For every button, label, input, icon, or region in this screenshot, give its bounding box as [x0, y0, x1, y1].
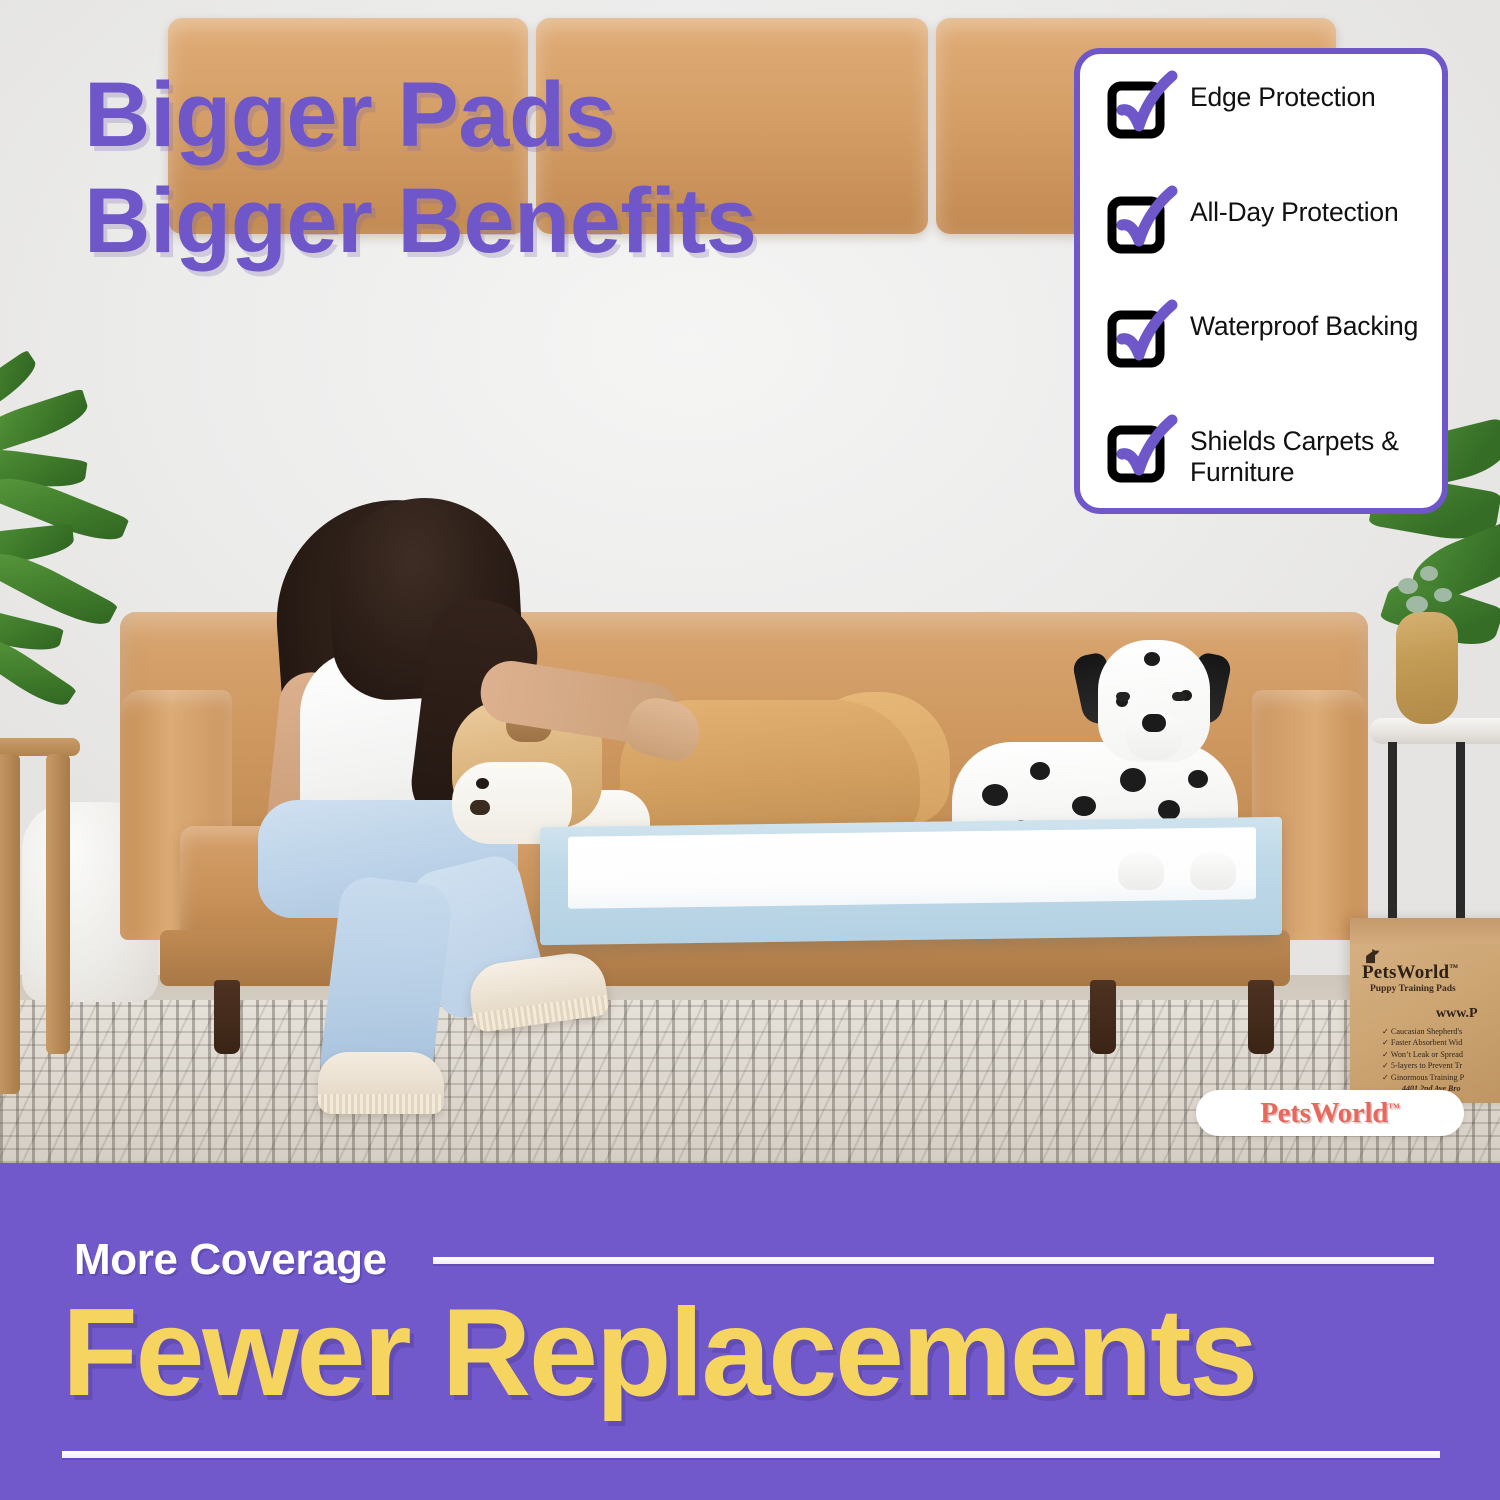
- checkbox-checked-icon: [1106, 311, 1164, 367]
- carton-bullet: ✓ Faster Absorbent Wid: [1382, 1037, 1464, 1048]
- petsworld-logo-badge: PetsWorld™: [1196, 1090, 1464, 1136]
- checklist-item-edge-protection: Edge Protection: [1106, 80, 1422, 138]
- banner-divider-bottom: [62, 1451, 1440, 1458]
- carton-bullet: ✓ 5-layers to Prevent Tr: [1382, 1060, 1464, 1071]
- checklist-label: Shields Carpets & Furniture: [1190, 424, 1422, 488]
- dalmatian-paw: [1190, 852, 1236, 890]
- checkbox-checked-icon: [1106, 426, 1164, 482]
- bulldog-eye: [476, 778, 489, 789]
- banner-eyebrow: More Coverage: [74, 1235, 387, 1285]
- headline-line-1: Bigger Pads: [84, 62, 984, 168]
- eucalyptus-leaf: [1406, 596, 1428, 613]
- carton-bullet: ✓ Caucasian Shepherd's: [1382, 1026, 1464, 1037]
- benefits-checklist-card: Edge Protection All-Day Protection Water…: [1074, 48, 1448, 514]
- bottom-banner: More Coverage Fewer Replacements: [0, 1163, 1500, 1500]
- banner-divider-top: [433, 1257, 1434, 1264]
- checklist-label: All-Day Protection: [1190, 195, 1398, 228]
- training-pad: [540, 817, 1282, 945]
- carton-brand-name: PetsWorld™: [1362, 962, 1459, 984]
- dalmatian-nose: [1142, 714, 1166, 732]
- product-carton: PetsWorld™ Puppy Training Pads www.P ✓ C…: [1350, 918, 1500, 1103]
- stool-leg: [46, 754, 70, 1054]
- banner-headline: Fewer Replacements: [62, 1291, 1462, 1415]
- page-title: Bigger Pads Bigger Benefits: [84, 62, 984, 274]
- carton-bullet-list: ✓ Caucasian Shepherd's ✓ Faster Absorben…: [1382, 1026, 1464, 1083]
- dalmatian-eye: [1172, 692, 1186, 701]
- checklist-item-waterproof-backing: Waterproof Backing: [1106, 309, 1422, 367]
- banner-eyebrow-row: More Coverage: [74, 1235, 1434, 1285]
- carton-bullet: ✓ Won’t Leak or Spread: [1382, 1049, 1464, 1060]
- bulldog-nose: [470, 800, 490, 815]
- dalmatian-eye: [1116, 692, 1130, 701]
- stool-leg: [0, 754, 20, 1094]
- carton-website: www.P: [1436, 1006, 1478, 1022]
- checklist-label: Waterproof Backing: [1190, 309, 1418, 342]
- dalmatian-paw: [1118, 852, 1164, 890]
- carton-trademark: ™: [1449, 963, 1458, 973]
- brand-name-text: PetsWorld: [1260, 1097, 1388, 1129]
- woman-sneaker: [318, 1052, 444, 1114]
- eucalyptus-leaf: [1434, 588, 1452, 602]
- wooden-vase: [1396, 612, 1458, 724]
- sofa-leg: [1248, 980, 1274, 1054]
- wooden-stool: [0, 738, 80, 1098]
- carton-brand-text: PetsWorld: [1362, 962, 1449, 983]
- eucalyptus-leaf: [1420, 566, 1438, 581]
- brand-trademark: ™: [1388, 1100, 1400, 1114]
- checkbox-checked-icon: [1106, 197, 1164, 253]
- checklist-label: Edge Protection: [1190, 80, 1376, 113]
- eucalyptus-leaf: [1398, 578, 1418, 594]
- carton-subtitle: Puppy Training Pads: [1370, 984, 1456, 994]
- checklist-item-shields-carpets-furniture: Shields Carpets & Furniture: [1106, 424, 1422, 488]
- carton-flap: [1350, 918, 1500, 944]
- sofa-leg: [214, 980, 240, 1054]
- carton-bullet: ✓ Ginormous Training P: [1382, 1072, 1464, 1083]
- checkbox-checked-icon: [1106, 82, 1164, 138]
- sofa-leg: [1090, 980, 1116, 1054]
- headline-line-2: Bigger Benefits: [84, 168, 984, 274]
- petsworld-logo-text: PetsWorld™: [1260, 1097, 1400, 1130]
- checklist-item-all-day-protection: All-Day Protection: [1106, 195, 1422, 253]
- product-infographic: PetsWorld™ Puppy Training Pads www.P ✓ C…: [0, 0, 1500, 1500]
